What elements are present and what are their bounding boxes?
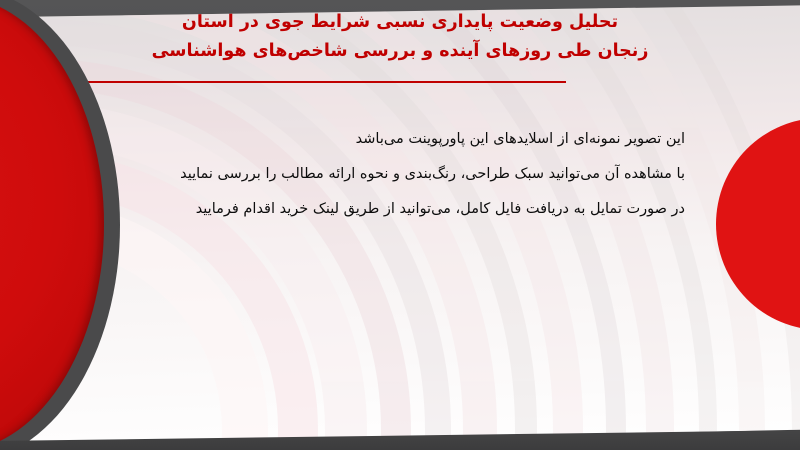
slide-content-panel: تحلیل وضعیت پایداری نسبی شرایط جوی در اس… xyxy=(0,0,800,450)
slide-title: تحلیل وضعیت پایداری نسبی شرایط جوی در اس… xyxy=(60,8,740,66)
slide-body-text: این تصویر نمونه‌ای از اسلایدهای این پاور… xyxy=(125,122,685,227)
body-line-2: با مشاهده آن می‌توانید سبک طراحی، رنگ‌بن… xyxy=(125,157,685,192)
body-line-3: در صورت تمایل به دریافت فایل کامل، می‌تو… xyxy=(125,192,685,227)
title-line-2: زنجان طی روزهای آینده و بررسی شاخص‌های ه… xyxy=(60,37,740,66)
body-line-1: این تصویر نمونه‌ای از اسلایدهای این پاور… xyxy=(125,122,685,157)
title-underline-rule xyxy=(60,81,566,83)
slide-canvas: تحلیل وضعیت پایداری نسبی شرایط جوی در اس… xyxy=(0,0,800,450)
